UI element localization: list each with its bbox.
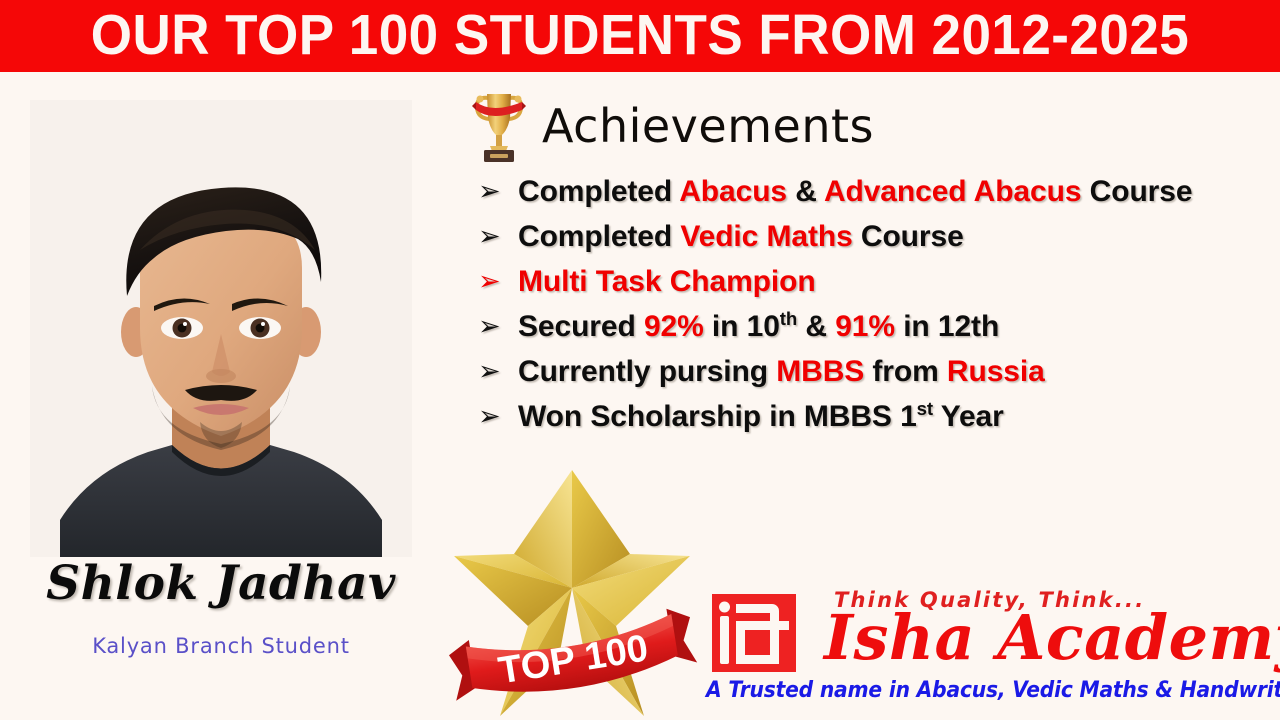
achievement-item: ➢Won Scholarship in MBBS 1st Year (478, 395, 1218, 439)
arrow-bullet-icon: ➢ (478, 350, 518, 394)
gold-star-icon: TOP 100 (424, 466, 720, 720)
achievement-item: ➢Completed Vedic Maths Course (478, 215, 1218, 259)
achievement-item: ➢Completed Abacus & Advanced Abacus Cour… (478, 170, 1218, 214)
achievement-text: Currently pursing MBBS from Russia (518, 350, 1218, 394)
achievement-text: Secured 92% in 10th & 91% in 12th (518, 305, 1218, 349)
achievement-text: Multi Task Champion (518, 260, 1218, 304)
student-name: Shlok Jadhav (30, 556, 412, 611)
logo-name: Isha Academy (824, 607, 1280, 669)
achievement-item: ➢Currently pursing MBBS from Russia (478, 350, 1218, 394)
achievement-item: ➢Multi Task Champion (478, 260, 1218, 304)
achievements-list: ➢Completed Abacus & Advanced Abacus Cour… (478, 170, 1218, 440)
isha-academy-logo: Think Quality, Think... Isha Academy A T… (706, 588, 1278, 712)
achievement-text: Completed Abacus & Advanced Abacus Cours… (518, 170, 1218, 214)
arrow-bullet-icon: ➢ (478, 170, 518, 214)
top-100-badge: TOP 100 (424, 466, 720, 720)
page-title: OUR TOP 100 STUDENTS FROM 2012-2025 (45, 0, 1235, 72)
arrow-bullet-icon: ➢ (478, 395, 518, 439)
header-banner: OUR TOP 100 STUDENTS FROM 2012-2025 (0, 0, 1280, 72)
student-portrait-illustration (30, 100, 412, 557)
achievements-heading-text: Achievements (542, 99, 874, 153)
arrow-bullet-icon: ➢ (478, 305, 518, 349)
arrow-bullet-icon: ➢ (478, 260, 518, 304)
achievement-text: Completed Vedic Maths Course (518, 215, 1218, 259)
student-photo (30, 100, 412, 557)
achievement-text: Won Scholarship in MBBS 1st Year (518, 395, 1218, 439)
student-branch-label: Kalyan Branch Student (30, 634, 412, 658)
logo-tagline-bottom: A Trusted name in Abacus, Vedic Maths & … (706, 678, 1280, 703)
isha-academy-ia-mark-icon (712, 594, 796, 672)
trophy-icon (470, 88, 528, 164)
achievement-item: ➢Secured 92% in 10th & 91% in 12th (478, 305, 1218, 349)
arrow-bullet-icon: ➢ (478, 215, 518, 259)
achievements-heading: Achievements (470, 88, 874, 164)
